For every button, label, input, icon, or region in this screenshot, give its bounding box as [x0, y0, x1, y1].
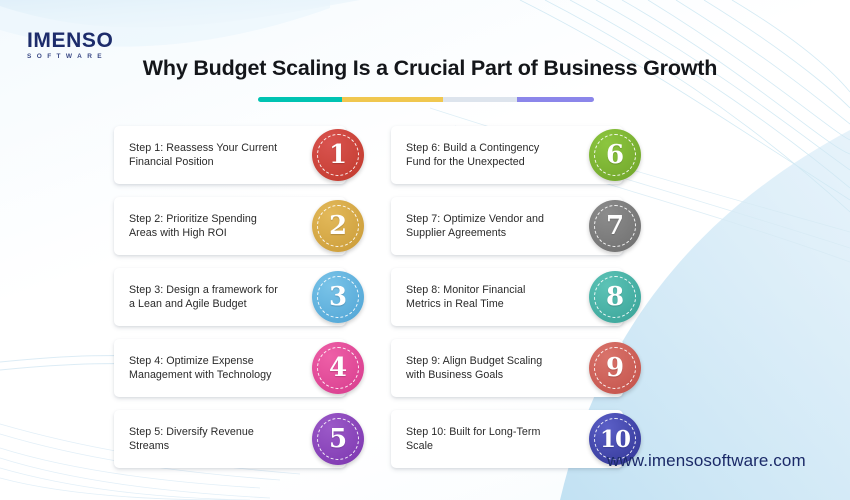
step-number-label: 9 — [606, 355, 624, 381]
brand-logo: IMENSO SOFTWARE — [27, 30, 113, 61]
step-number-label: 7 — [606, 213, 624, 239]
step-number-badge: 6 — [589, 129, 641, 181]
step-number-label: 6 — [606, 142, 624, 168]
steps-column-right: Step 6: Build a Contingency Fund for the… — [391, 126, 623, 468]
top-left-swoosh — [0, 0, 360, 28]
step-number-badge: 7 — [589, 200, 641, 252]
title-divider — [258, 97, 594, 102]
infographic-canvas: IMENSO SOFTWARE Why Budget Scaling Is a … — [0, 0, 850, 500]
page-title: Why Budget Scaling Is a Crucial Part of … — [130, 56, 730, 81]
website-url[interactable]: www.imensosoftware.com — [607, 451, 806, 471]
step-card[interactable]: Step 6: Build a Contingency Fund for the… — [391, 126, 623, 184]
step-card[interactable]: Step 2: Prioritize Spending Areas with H… — [114, 197, 346, 255]
step-number-badge: 9 — [589, 342, 641, 394]
divider-segment-4 — [517, 97, 594, 102]
step-card[interactable]: Step 4: Optimize Expense Management with… — [114, 339, 346, 397]
step-number-badge: 8 — [589, 271, 641, 323]
logo-wordmark: IMENSO — [27, 30, 113, 51]
step-number-badge: 4 — [312, 342, 364, 394]
divider-segment-3 — [443, 97, 517, 102]
divider-segment-1 — [258, 97, 342, 102]
logo-tagline: SOFTWARE — [27, 54, 113, 61]
step-number-badge: 1 — [312, 129, 364, 181]
step-number-label: 2 — [329, 213, 347, 239]
step-card[interactable]: Step 5: Diversify Revenue Streams5 — [114, 410, 346, 468]
step-number-label: 4 — [329, 355, 347, 381]
step-card[interactable]: Step 7: Optimize Vendor and Supplier Agr… — [391, 197, 623, 255]
step-number-badge: 5 — [312, 413, 364, 465]
divider-segment-2 — [342, 97, 443, 102]
step-card[interactable]: Step 1: Reassess Your Current Financial … — [114, 126, 346, 184]
step-card[interactable]: Step 9: Align Budget Scaling with Busine… — [391, 339, 623, 397]
step-number-label: 1 — [329, 142, 347, 168]
step-card[interactable]: Step 10: Built for Long-Term Scale10 — [391, 410, 623, 468]
step-card[interactable]: Step 8: Monitor Financial Metrics in Rea… — [391, 268, 623, 326]
step-card[interactable]: Step 3: Design a framework for a Lean an… — [114, 268, 346, 326]
step-number-badge: 3 — [312, 271, 364, 323]
step-number-label: 3 — [329, 284, 347, 310]
step-number-label: 5 — [329, 426, 347, 452]
step-number-label: 8 — [606, 284, 624, 310]
step-number-label: 10 — [600, 428, 630, 451]
step-number-badge: 2 — [312, 200, 364, 252]
steps-column-left: Step 1: Reassess Your Current Financial … — [114, 126, 346, 468]
